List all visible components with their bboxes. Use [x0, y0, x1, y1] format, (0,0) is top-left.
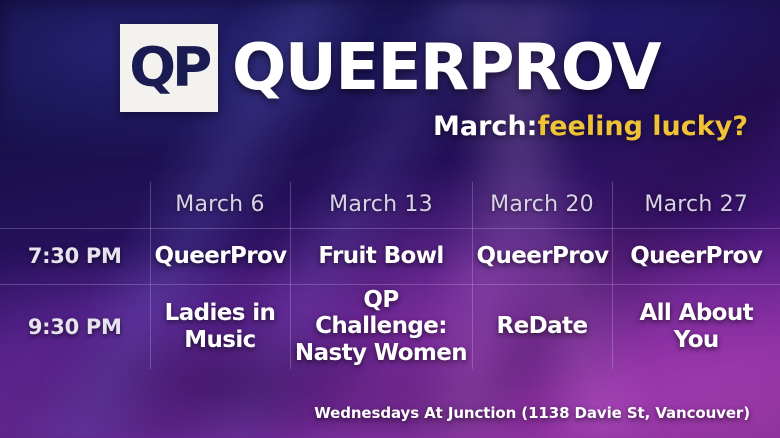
- tagline-prefix: March:: [433, 111, 537, 142]
- time-label-930pm: 9:30 PM: [0, 284, 150, 369]
- show-cell-730pm-march-27: QueerProv: [612, 228, 780, 284]
- show-cell-730pm-march-20: QueerProv: [472, 228, 612, 284]
- show-cell-730pm-march-13: Fruit Bowl: [290, 228, 472, 284]
- date-header-3: March 20: [472, 182, 612, 228]
- date-header-1: March 6: [150, 182, 290, 228]
- show-cell-930pm-march-13: QP Challenge: Nasty Women: [290, 284, 472, 369]
- date-header-2: March 13: [290, 182, 472, 228]
- show-cell-930pm-march-20: ReDate: [472, 284, 612, 369]
- queerprov-march-poster: QP QUEERPROV March:feeling lucky? March …: [0, 0, 780, 438]
- tagline-highlight: feeling lucky?: [537, 111, 748, 142]
- poster-content: QP QUEERPROV March:feeling lucky? March …: [0, 0, 780, 438]
- month-tagline: March:feeling lucky?: [433, 113, 748, 140]
- schedule-table: March 6 March 13 March 20 March 27 7:30 …: [0, 182, 780, 369]
- brand-wordmark: QUEERPROV: [232, 36, 660, 100]
- poster-header: QP QUEERPROV: [0, 24, 780, 112]
- time-label-730pm: 7:30 PM: [0, 228, 150, 284]
- schedule-row-730pm: 7:30 PM QueerProv Fruit Bowl QueerProv Q…: [0, 228, 780, 284]
- show-cell-730pm-march-6: QueerProv: [150, 228, 290, 284]
- schedule-row-930pm: 9:30 PM Ladies in Music QP Challenge: Na…: [0, 284, 780, 369]
- queerprov-logo-mark: QP: [120, 24, 218, 112]
- venue-footer: Wednesdays At Junction (1138 Davie St, V…: [314, 404, 750, 422]
- schedule-header-row: March 6 March 13 March 20 March 27: [0, 182, 780, 228]
- show-cell-930pm-march-6: Ladies in Music: [150, 284, 290, 369]
- date-header-4: March 27: [612, 182, 780, 228]
- schedule-corner-cell: [0, 182, 150, 228]
- show-cell-930pm-march-27: All About You: [612, 284, 780, 369]
- logo-monogram-text: QP: [129, 41, 208, 95]
